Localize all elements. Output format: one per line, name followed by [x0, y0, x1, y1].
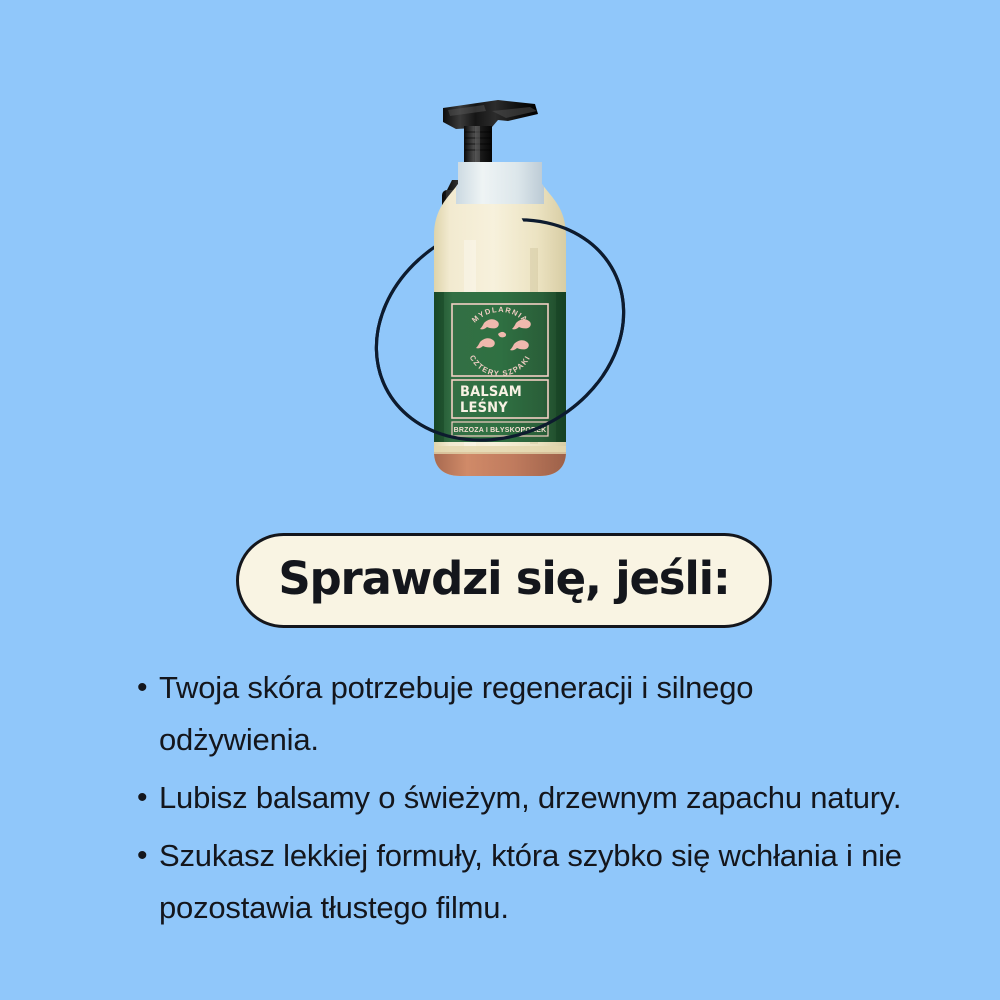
svg-text:BRZOZA I BŁYSKOPOREK: BRZOZA I BŁYSKOPOREK	[454, 427, 547, 434]
bottle-label: MYDLARNIA CZTERY SZPAKI	[434, 292, 566, 442]
bullet-marker-icon: •	[133, 662, 159, 714]
list-item: • Lubisz balsamy o świeżym, drzewnym zap…	[133, 772, 913, 824]
bullet-marker-icon: •	[133, 830, 159, 882]
pump-head-icon	[443, 100, 538, 129]
poster-canvas: MYDLARNIA CZTERY SZPAKI	[0, 0, 1000, 1000]
list-item: • Szukasz lekkiej formuły, która szybko …	[133, 830, 913, 934]
svg-text:LEŚNY: LEŚNY	[460, 397, 509, 416]
svg-text:BALSAM: BALSAM	[460, 383, 522, 400]
product-bottle: MYDLARNIA CZTERY SZPAKI	[380, 80, 620, 500]
page-title: Sprawdzi się, jeśli:	[278, 556, 729, 605]
bullet-marker-icon: •	[133, 772, 159, 824]
list-item: • Twoja skóra potrzebuje regeneracji i s…	[133, 662, 913, 766]
headline-pill: Sprawdzi się, jeśli:	[236, 533, 772, 628]
list-item-text: Szukasz lekkiej formuły, która szybko si…	[159, 830, 913, 934]
list-item-text: Lubisz balsamy o świeżym, drzewnym zapac…	[159, 772, 913, 824]
list-item-text: Twoja skóra potrzebuje regeneracji i sil…	[159, 662, 913, 766]
benefits-list: • Twoja skóra potrzebuje regeneracji i s…	[133, 662, 913, 940]
